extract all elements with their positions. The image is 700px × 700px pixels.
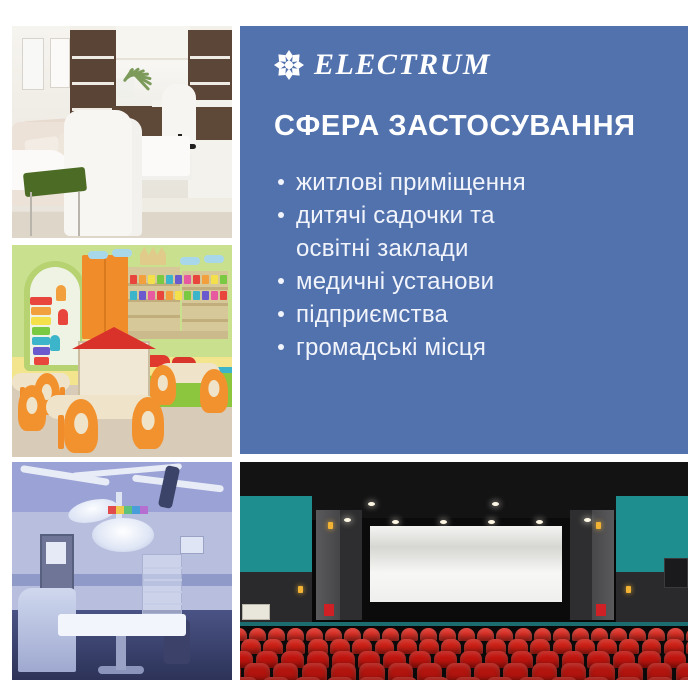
bullet-dot-icon (278, 278, 284, 284)
list-item-line1: підприємства (296, 301, 448, 328)
application-areas-list: житлові приміщення дитячі садочки та осв… (270, 166, 680, 364)
list-item-line2: освітні заклади (296, 232, 680, 265)
photo-cinema-hall (240, 462, 688, 680)
photo-kindergarten (12, 245, 232, 457)
photo-operating-room (12, 462, 232, 680)
photo-living-room (12, 26, 232, 238)
bullet-dot-icon (278, 179, 284, 185)
list-item: дитячі садочки та освітні заклади (270, 199, 680, 265)
list-item-line1: дитячі садочки та (296, 202, 495, 229)
list-item-line1: медичні установи (296, 268, 494, 295)
list-item: підприємства (270, 298, 680, 331)
bullet-dot-icon (278, 311, 284, 317)
poster-root: ELECTRUM СФЕРА ЗАСТОСУВАННЯ житлові прим… (0, 0, 700, 700)
info-panel: ELECTRUM СФЕРА ЗАСТОСУВАННЯ житлові прим… (240, 26, 688, 454)
brand-name: ELECTRUM (314, 50, 491, 80)
list-item-line1: громадські місця (296, 334, 486, 361)
electrum-flower-star-icon (274, 50, 304, 80)
list-item: громадські місця (270, 331, 680, 364)
list-item: медичні установи (270, 265, 680, 298)
bullet-dot-icon (278, 212, 284, 218)
list-item: житлові приміщення (270, 166, 680, 199)
page-title: СФЕРА ЗАСТОСУВАННЯ (274, 110, 674, 143)
bullet-dot-icon (278, 344, 284, 350)
list-item-line1: житлові приміщення (296, 169, 526, 196)
brand-lockup: ELECTRUM (274, 50, 491, 80)
